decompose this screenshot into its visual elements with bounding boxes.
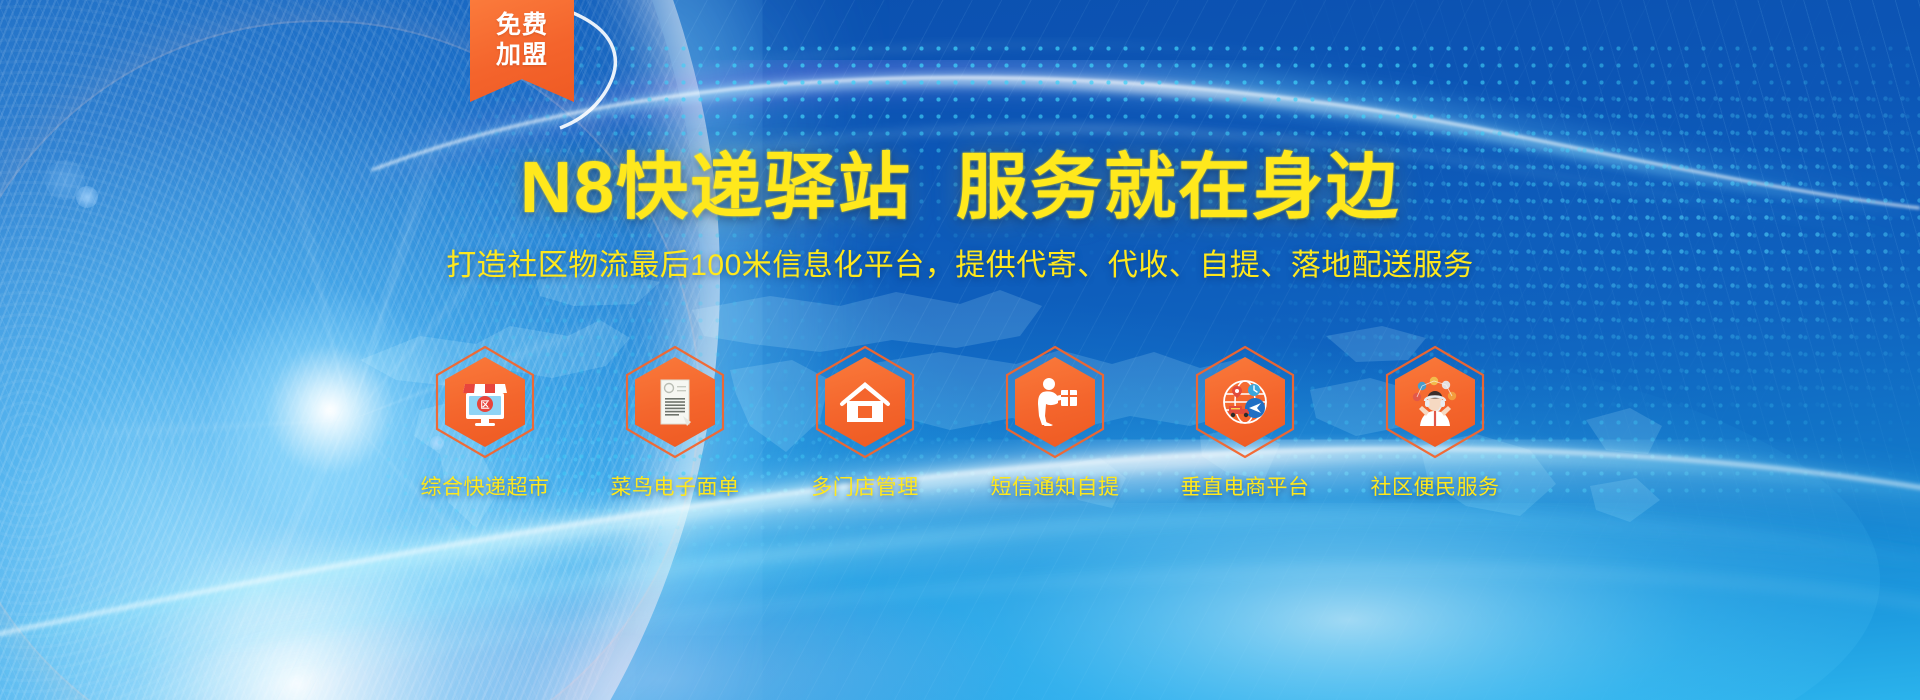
waybill-document-icon <box>649 376 701 428</box>
feature-label: 多门店管理 <box>811 471 919 501</box>
feature-label: 菜鸟电子面单 <box>611 471 740 501</box>
promotional-banner: 免费 加盟 N8快递驿站 服务就在身边 打造社区物流最后100米信息化平台，提供… <box>0 0 1920 700</box>
house-icon <box>839 376 891 428</box>
hex-badge <box>1004 345 1106 459</box>
hex-badge <box>624 345 726 459</box>
feature-list: 区 综合快递超市 <box>0 345 1920 501</box>
feature-label: 社区便民服务 <box>1371 471 1500 501</box>
hex-badge <box>1194 345 1296 459</box>
ribbon-text: 免费 加盟 <box>470 0 574 102</box>
hex-badge <box>814 345 916 459</box>
customer-service-icon <box>1409 376 1461 428</box>
page-title: N8快递驿站 服务就在身边 <box>0 150 1920 226</box>
globe-logistics-icon <box>1219 376 1271 428</box>
feature-label: 垂直电商平台 <box>1181 471 1310 501</box>
free-join-ribbon[interactable]: 免费 加盟 <box>470 0 574 102</box>
feature-item[interactable]: 区 综合快递超市 <box>406 345 564 501</box>
hex-badge: 区 <box>434 345 536 459</box>
page-subtitle: 打造社区物流最后100米信息化平台，提供代寄、代收、自提、落地配送服务 <box>0 240 1920 284</box>
feature-item[interactable]: 短信通知自提 <box>976 345 1134 501</box>
storefront-icon: 区 <box>459 376 511 428</box>
svg-text:区: 区 <box>480 400 489 410</box>
ribbon-line-1: 免费 <box>496 11 548 41</box>
feature-item[interactable]: 菜鸟电子面单 <box>596 345 754 501</box>
hex-badge <box>1384 345 1486 459</box>
feature-item[interactable]: 社区便民服务 <box>1356 345 1514 501</box>
headline-block: N8快递驿站 服务就在身边 打造社区物流最后100米信息化平台，提供代寄、代收、… <box>0 150 1920 284</box>
feature-label: 综合快递超市 <box>421 471 550 501</box>
person-parcel-icon <box>1029 376 1081 428</box>
feature-label: 短信通知自提 <box>991 471 1120 501</box>
ribbon-line-2: 加盟 <box>496 41 548 71</box>
feature-item[interactable]: 垂直电商平台 <box>1166 345 1324 501</box>
feature-item[interactable]: 多门店管理 <box>786 345 944 501</box>
